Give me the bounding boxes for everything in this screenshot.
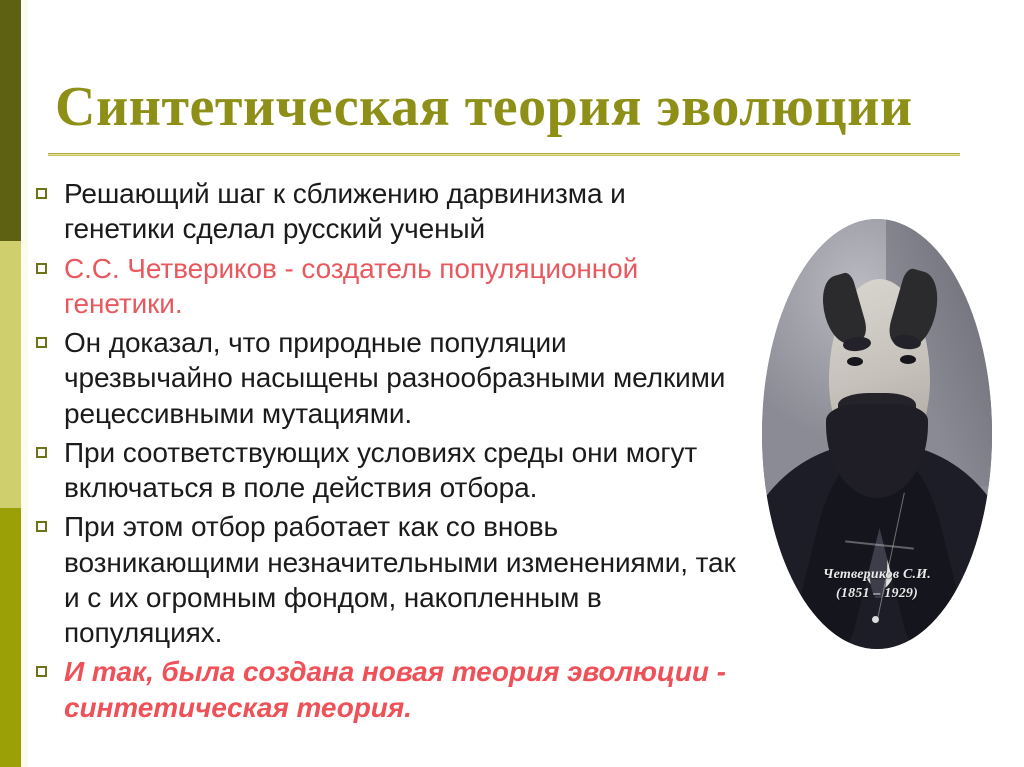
list-item: С.С. Четвериков - создатель популяционно… (36, 251, 736, 322)
left-decorative-stripe (0, 0, 21, 767)
portrait-caption-years: (1851 – 1929) (762, 585, 992, 604)
portrait-photo: Четвериков С.И. (1851 – 1929) (762, 219, 992, 649)
square-bullet-icon (36, 337, 47, 348)
title-divider (48, 153, 960, 156)
list-item: Он доказал, что природные популяции чрез… (36, 325, 736, 431)
slide: Синтетическая теория эволюции Решающий ш… (0, 0, 1024, 767)
stripe-band-middle (0, 241, 21, 508)
square-bullet-icon (36, 521, 47, 532)
slide-title: Синтетическая теория эволюции (55, 78, 955, 137)
square-bullet-icon (36, 263, 47, 274)
list-item-text: При соответствующих условиях среды они м… (64, 435, 736, 506)
list-item-text: Решающий шаг к сближению дарвинизма и ге… (64, 176, 736, 247)
portrait-figure: Четвериков С.И. (1851 – 1929) (762, 219, 992, 649)
list-item-text: С.С. Четвериков - создатель популяционно… (64, 251, 736, 322)
square-bullet-icon (36, 188, 47, 199)
portrait-caption: Четвериков С.И. (1851 – 1929) (762, 566, 992, 604)
portrait-caption-name: Четвериков С.И. (762, 566, 992, 585)
stripe-band-top (0, 0, 21, 241)
list-item: При этом отбор работает как со вновь воз… (36, 509, 736, 650)
list-item-text: Он доказал, что природные популяции чрез… (64, 325, 736, 431)
square-bullet-icon (36, 666, 47, 677)
stripe-gap (21, 0, 28, 767)
list-item: Решающий шаг к сближению дарвинизма и ге… (36, 176, 736, 247)
stripe-band-bottom (0, 508, 21, 767)
portrait-eye-left (847, 357, 863, 366)
list-item-text: И так, была создана новая теория эволюци… (64, 654, 736, 725)
bullet-list: Решающий шаг к сближению дарвинизма и ге… (36, 176, 736, 729)
list-item-text: При этом отбор работает как со вновь воз… (64, 509, 736, 650)
list-item: И так, была создана новая теория эволюци… (36, 654, 736, 725)
list-item: При соответствующих условиях среды они м… (36, 435, 736, 506)
square-bullet-icon (36, 447, 47, 458)
